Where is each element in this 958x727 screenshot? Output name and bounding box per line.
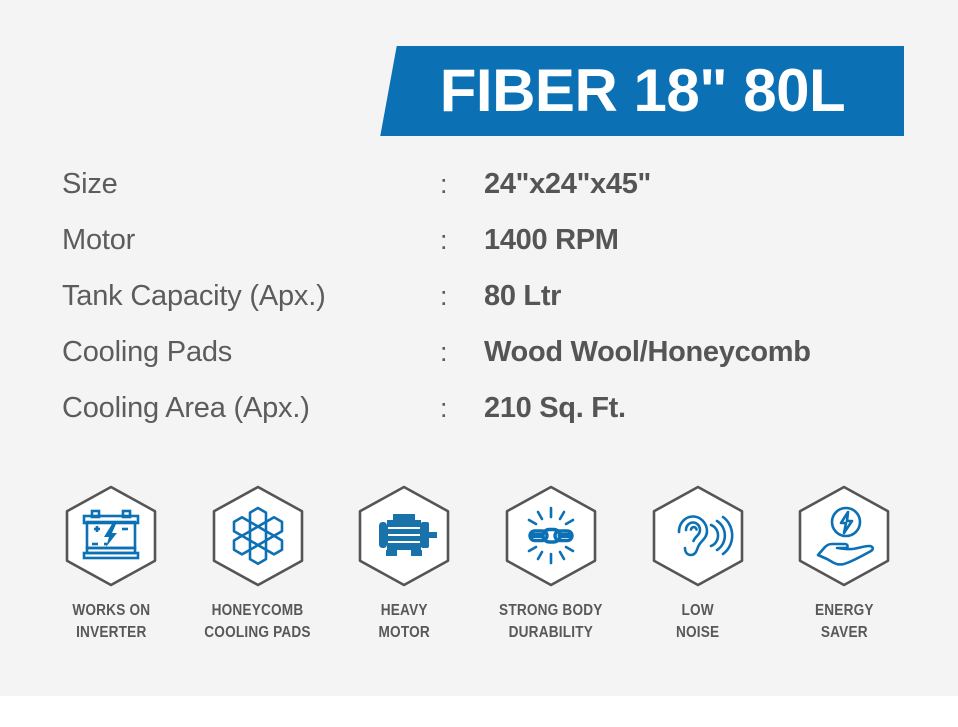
feature-label: LOW NOISE <box>676 600 719 644</box>
battery-inverter-icon <box>62 484 160 588</box>
motor-icon <box>355 484 453 588</box>
feature-list: WORKS ON INVERTER HONE <box>38 484 918 644</box>
feature-label: HONEYCOMB COOLING PADS <box>205 600 311 644</box>
feature-item: WORKS ON INVERTER <box>38 484 185 644</box>
feature-label: WORKS ON INVERTER <box>72 600 150 644</box>
spec-list: Size : 24"x24"x45" Motor : 1400 RPM Tank… <box>62 168 922 448</box>
spec-label: Cooling Area (Apx.) <box>62 392 440 425</box>
spec-value: 1400 RPM <box>484 224 619 257</box>
page-title: FIBER 18" 80L <box>355 46 904 136</box>
spec-row: Size : 24"x24"x45" <box>62 168 922 224</box>
feature-label: STRONG BODY DURABILITY <box>499 600 602 644</box>
feature-item: ENERGY SAVER <box>771 484 918 644</box>
spec-value: 210 Sq. Ft. <box>484 392 626 425</box>
spec-value: Wood Wool/Honeycomb <box>484 336 811 369</box>
product-spec-card: FIBER 18" 80L Size : 24"x24"x45" Motor :… <box>0 0 958 696</box>
spec-label: Motor <box>62 224 440 257</box>
chain-link-icon <box>502 484 600 588</box>
spec-separator: : <box>440 337 484 368</box>
spec-row: Cooling Pads : Wood Wool/Honeycomb <box>62 336 922 392</box>
spec-separator: : <box>440 169 484 200</box>
spec-value: 24"x24"x45" <box>484 168 651 201</box>
feature-item: LOW NOISE <box>624 484 771 644</box>
spec-separator: : <box>440 225 484 256</box>
spec-label: Tank Capacity (Apx.) <box>62 280 440 313</box>
hand-energy-icon <box>795 484 893 588</box>
spec-row: Tank Capacity (Apx.) : 80 Ltr <box>62 280 922 336</box>
feature-label: ENERGY SAVER <box>815 600 874 644</box>
spec-label: Size <box>62 168 440 201</box>
spec-row: Motor : 1400 RPM <box>62 224 922 280</box>
feature-label: HEAVY MOTOR <box>379 600 430 644</box>
spec-value: 80 Ltr <box>484 280 561 313</box>
title-banner: FIBER 18" 80L <box>355 46 904 136</box>
honeycomb-icon <box>209 484 307 588</box>
spec-separator: : <box>440 281 484 312</box>
spec-label: Cooling Pads <box>62 336 440 369</box>
feature-item: HONEYCOMB COOLING PADS <box>185 484 332 644</box>
spec-row: Cooling Area (Apx.) : 210 Sq. Ft. <box>62 392 922 448</box>
feature-item: HEAVY MOTOR <box>331 484 478 644</box>
feature-item: STRONG BODY DURABILITY <box>478 484 625 644</box>
ear-sound-icon <box>649 484 747 588</box>
spec-separator: : <box>440 393 484 424</box>
